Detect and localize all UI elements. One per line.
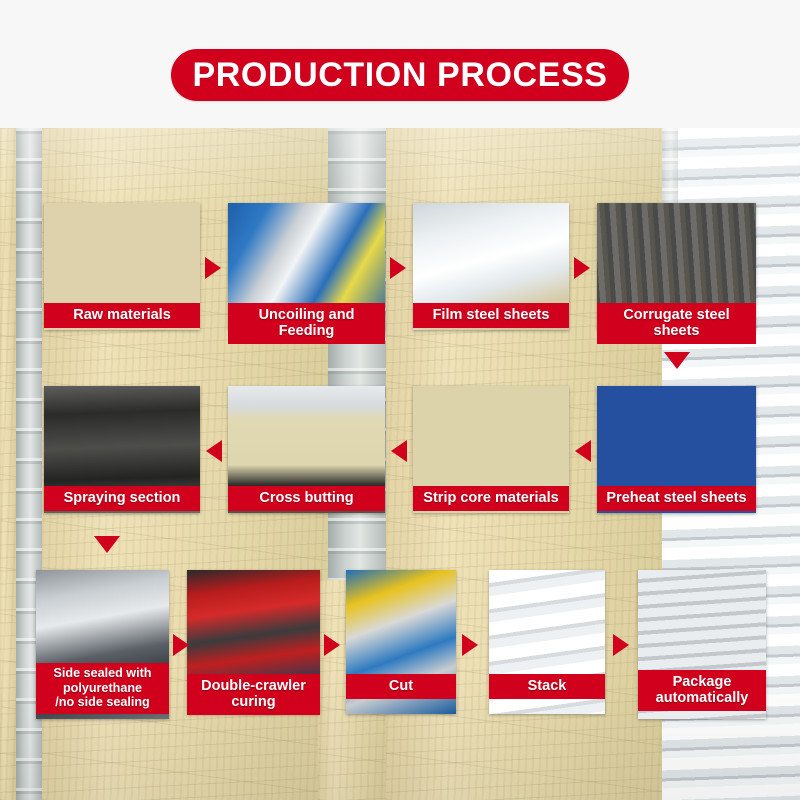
- step-label: Side sealed with polyurethane /no side s…: [36, 663, 169, 714]
- step-label-line: polyurethane: [38, 681, 167, 696]
- step-label: Cross butting: [228, 486, 385, 511]
- flow-arrow-left-icon: [391, 440, 407, 462]
- flow-arrow-right-icon: [205, 257, 221, 279]
- flow-connector-down-icon: [94, 536, 120, 553]
- step-label: Film steel sheets: [413, 303, 569, 328]
- step-card-raw-materials[interactable]: Raw materials: [44, 203, 200, 330]
- flow-arrow-right-icon: [324, 634, 340, 656]
- step-label: Raw materials: [44, 303, 200, 328]
- page-title: PRODUCTION PROCESS: [192, 58, 607, 92]
- step-card-cut[interactable]: Cut: [346, 570, 456, 714]
- step-label-line: automatically: [640, 690, 764, 706]
- step-card-stack[interactable]: Stack: [489, 570, 605, 714]
- step-label: Spraying section: [44, 486, 200, 511]
- step-card-strip-core-materials[interactable]: Strip core materials: [413, 386, 569, 513]
- step-label-line: Double-crawler: [189, 678, 318, 694]
- step-label: Stack: [489, 674, 605, 699]
- step-label: Double-crawler curing: [187, 674, 320, 715]
- step-card-preheat-steel-sheets[interactable]: Preheat steel sheets: [597, 386, 756, 513]
- step-label: Uncoiling and Feeding: [228, 303, 385, 344]
- step-label-line: /no side sealing: [38, 695, 167, 710]
- step-card-double-crawler-curing[interactable]: Double-crawler curing: [187, 570, 320, 714]
- flow-arrow-left-icon: [575, 440, 591, 462]
- flow-connector-down-icon: [664, 352, 690, 369]
- step-label: Preheat steel sheets: [597, 486, 756, 511]
- step-label-line: Corrugate steel sheets: [599, 307, 754, 339]
- step-card-uncoiling-and-feeding[interactable]: Uncoiling and Feeding: [228, 203, 385, 330]
- flow-arrow-left-icon: [206, 440, 222, 462]
- step-card-spraying-section[interactable]: Spraying section: [44, 386, 200, 513]
- flow-arrow-right-icon: [613, 634, 629, 656]
- production-process-poster: PRODUCTION PROCESS Raw materials Uncoili…: [0, 0, 800, 800]
- step-label-line: Side sealed with: [38, 666, 167, 681]
- step-card-package-automatically[interactable]: Package automatically: [638, 570, 766, 719]
- flow-arrow-right-icon: [462, 634, 478, 656]
- flow-arrow-right-icon: [390, 257, 406, 279]
- step-label: Package automatically: [638, 670, 766, 711]
- step-card-side-sealed-with-polyurethane[interactable]: Side sealed with polyurethane /no side s…: [36, 570, 169, 719]
- step-label: Strip core materials: [413, 486, 569, 511]
- header-bar: PRODUCTION PROCESS: [0, 0, 800, 128]
- flow-arrow-right-icon: [173, 634, 189, 656]
- step-label: Cut: [346, 674, 456, 699]
- step-card-corrugate-steel-sheets[interactable]: Corrugate steel sheets: [597, 203, 756, 330]
- flow-arrow-right-icon: [574, 257, 590, 279]
- step-label: Corrugate steel sheets: [597, 303, 756, 344]
- step-card-film-steel-sheets[interactable]: Film steel sheets: [413, 203, 569, 330]
- step-label-line: curing: [189, 694, 318, 710]
- step-card-cross-butting[interactable]: Cross butting: [228, 386, 385, 513]
- step-label-line: Package: [640, 674, 764, 690]
- page-title-badge: PRODUCTION PROCESS: [171, 49, 629, 101]
